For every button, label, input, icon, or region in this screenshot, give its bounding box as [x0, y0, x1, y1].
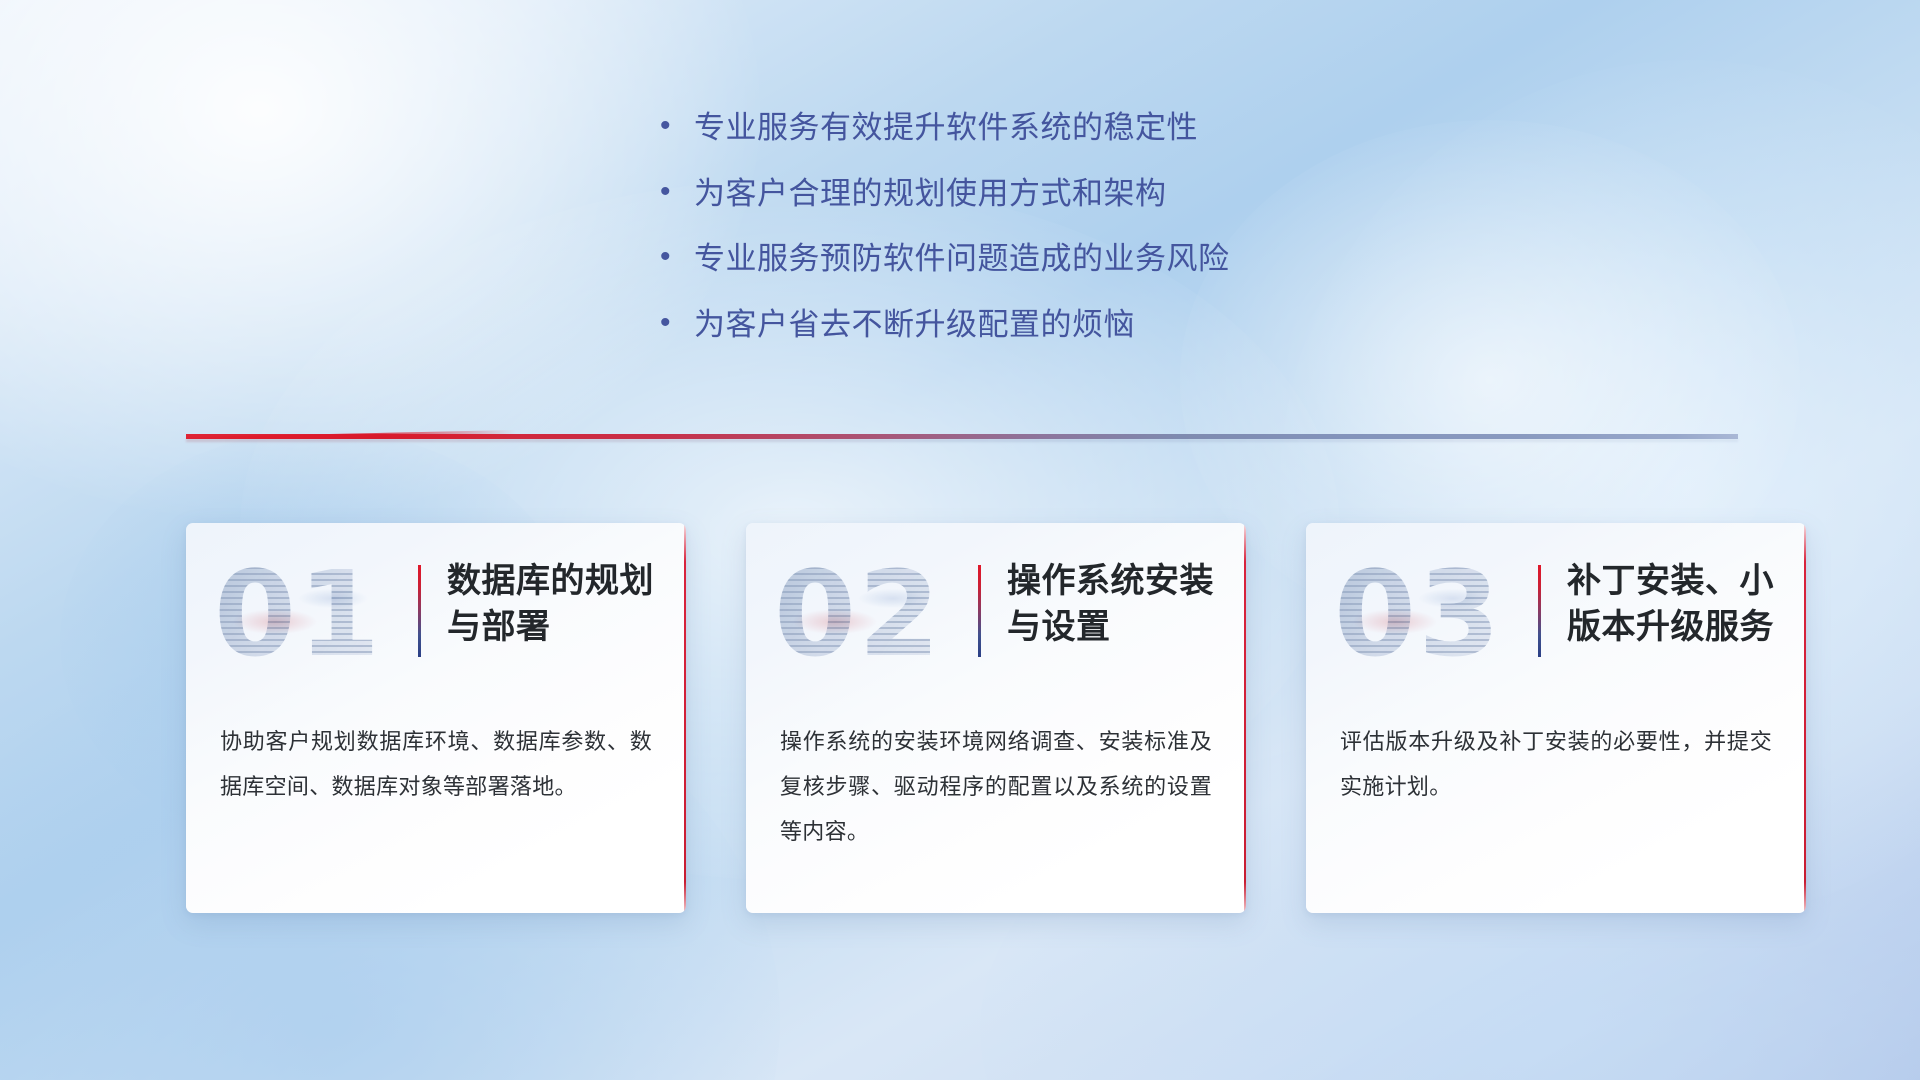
card-number-watermark: 02 [774, 549, 954, 679]
card-header: 数据库的规划与部署 [418, 559, 667, 657]
card-accent-bar [1538, 565, 1541, 657]
list-item: • 专业服务预防软件问题造成的业务风险 [660, 239, 1560, 279]
service-card-list: 01 数据库的规划与部署 协助客户规划数据库环境、数据库参数、数据库空间、数据库… [186, 523, 1806, 913]
card-title: 操作系统安装与设置 [1007, 559, 1227, 651]
benefits-bullet-list: • 专业服务有效提升软件系统的稳定性 • 为客户合理的规划使用方式和架构 • 专… [660, 108, 1560, 371]
card-accent-bar [978, 565, 981, 657]
card-accent-bar [418, 565, 421, 657]
divider-shadow [186, 439, 1738, 442]
card-header: 补丁安装、小版本升级服务 [1538, 559, 1787, 657]
list-item: • 为客户合理的规划使用方式和架构 [660, 174, 1560, 214]
bullet-text: 为客户省去不断升级配置的烦恼 [694, 305, 1135, 345]
list-item: • 专业服务有效提升软件系统的稳定性 [660, 108, 1560, 148]
card-description: 操作系统的安装环境网络调查、安装标准及复核步骤、驱动程序的配置以及系统的设置等内… [780, 719, 1212, 854]
slide-canvas: • 专业服务有效提升软件系统的稳定性 • 为客户合理的规划使用方式和架构 • 专… [0, 0, 1920, 1080]
card-description: 评估版本升级及补丁安装的必要性，并提交实施计划。 [1340, 719, 1772, 809]
card-number-watermark: 01 [214, 549, 394, 679]
service-card[interactable]: 03 补丁安装、小版本升级服务 评估版本升级及补丁安装的必要性，并提交实施计划。 [1306, 523, 1806, 913]
bullet-text: 专业服务有效提升软件系统的稳定性 [694, 108, 1198, 148]
card-title: 数据库的规划与部署 [447, 559, 667, 651]
card-title: 补丁安装、小版本升级服务 [1567, 559, 1787, 651]
bullet-text: 为客户合理的规划使用方式和架构 [694, 174, 1167, 214]
bullet-dot-icon: • [660, 242, 694, 272]
card-number-watermark: 03 [1334, 549, 1514, 679]
section-divider [186, 428, 1738, 444]
service-card[interactable]: 02 操作系统安装与设置 操作系统的安装环境网络调查、安装标准及复核步骤、驱动程… [746, 523, 1246, 913]
bullet-dot-icon: • [660, 308, 694, 338]
list-item: • 为客户省去不断升级配置的烦恼 [660, 305, 1560, 345]
bullet-text: 专业服务预防软件问题造成的业务风险 [694, 239, 1230, 279]
service-card[interactable]: 01 数据库的规划与部署 协助客户规划数据库环境、数据库参数、数据库空间、数据库… [186, 523, 686, 913]
bullet-dot-icon: • [660, 111, 694, 141]
card-description: 协助客户规划数据库环境、数据库参数、数据库空间、数据库对象等部署落地。 [220, 719, 652, 809]
bullet-dot-icon: • [660, 177, 694, 207]
card-header: 操作系统安装与设置 [978, 559, 1227, 657]
